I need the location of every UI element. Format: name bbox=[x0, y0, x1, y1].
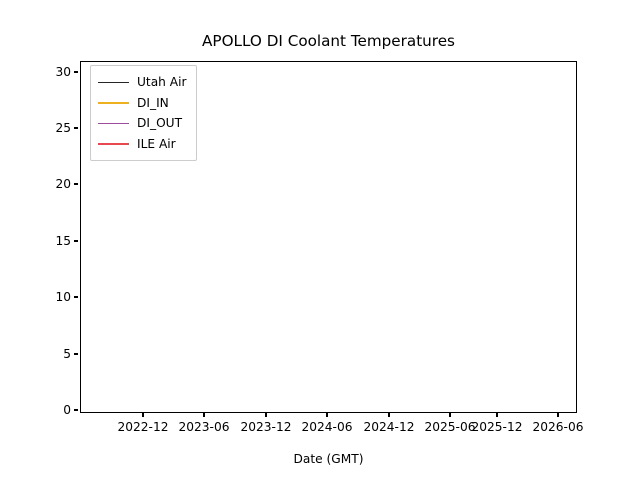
chart-legend: Utah Air DI_IN DI_OUT ILE Air bbox=[90, 65, 197, 161]
x-tick-mark bbox=[388, 413, 389, 417]
legend-swatch-di-out bbox=[98, 118, 129, 129]
x-tick-mark bbox=[142, 413, 143, 417]
x-tick-mark bbox=[496, 413, 497, 417]
y-tick-mark bbox=[74, 409, 78, 410]
y-tick-mark bbox=[74, 240, 78, 241]
y-tick-label: 15 bbox=[55, 233, 71, 250]
plot-area: Utah Air DI_IN DI_OUT ILE Air bbox=[80, 61, 577, 413]
legend-item-utah-air: Utah Air bbox=[98, 72, 187, 93]
legend-item-di-out: DI_OUT bbox=[98, 113, 187, 134]
x-tick-mark bbox=[557, 413, 558, 417]
chart-figure: APOLLO DI Coolant Temperatures Temperatu… bbox=[0, 0, 640, 480]
y-tick-label: 10 bbox=[55, 289, 71, 306]
y-tick-mark bbox=[74, 296, 78, 297]
x-tick-mark bbox=[449, 413, 450, 417]
y-tick-label: 25 bbox=[55, 120, 71, 137]
legend-item-ile-air: ILE Air bbox=[98, 134, 187, 155]
legend-swatch-utah-air bbox=[98, 77, 129, 88]
legend-label-utah-air: Utah Air bbox=[137, 75, 187, 89]
x-tick-mark bbox=[326, 413, 327, 417]
legend-label-ile-air: ILE Air bbox=[137, 137, 176, 151]
legend-swatch-ile-air bbox=[98, 138, 129, 149]
legend-item-di-in: DI_IN bbox=[98, 93, 187, 114]
x-tick-mark bbox=[203, 413, 204, 417]
y-tick-mark bbox=[74, 127, 78, 128]
y-tick-label: 20 bbox=[55, 176, 71, 193]
y-tick-mark bbox=[74, 183, 78, 184]
x-tick-label: 2026-06 bbox=[498, 419, 618, 435]
y-tick-label: 5 bbox=[63, 346, 71, 363]
y-tick-label: 30 bbox=[55, 64, 71, 81]
x-axis-label: Date (GMT) bbox=[80, 452, 577, 466]
y-tick-mark bbox=[74, 71, 78, 72]
legend-swatch-di-in bbox=[98, 97, 129, 108]
chart-title: APOLLO DI Coolant Temperatures bbox=[80, 33, 577, 50]
legend-label-di-in: DI_IN bbox=[137, 96, 169, 110]
x-tick-mark bbox=[265, 413, 266, 417]
y-tick-mark bbox=[74, 353, 78, 354]
y-tick-label: 0 bbox=[63, 402, 71, 419]
legend-label-di-out: DI_OUT bbox=[137, 116, 182, 130]
